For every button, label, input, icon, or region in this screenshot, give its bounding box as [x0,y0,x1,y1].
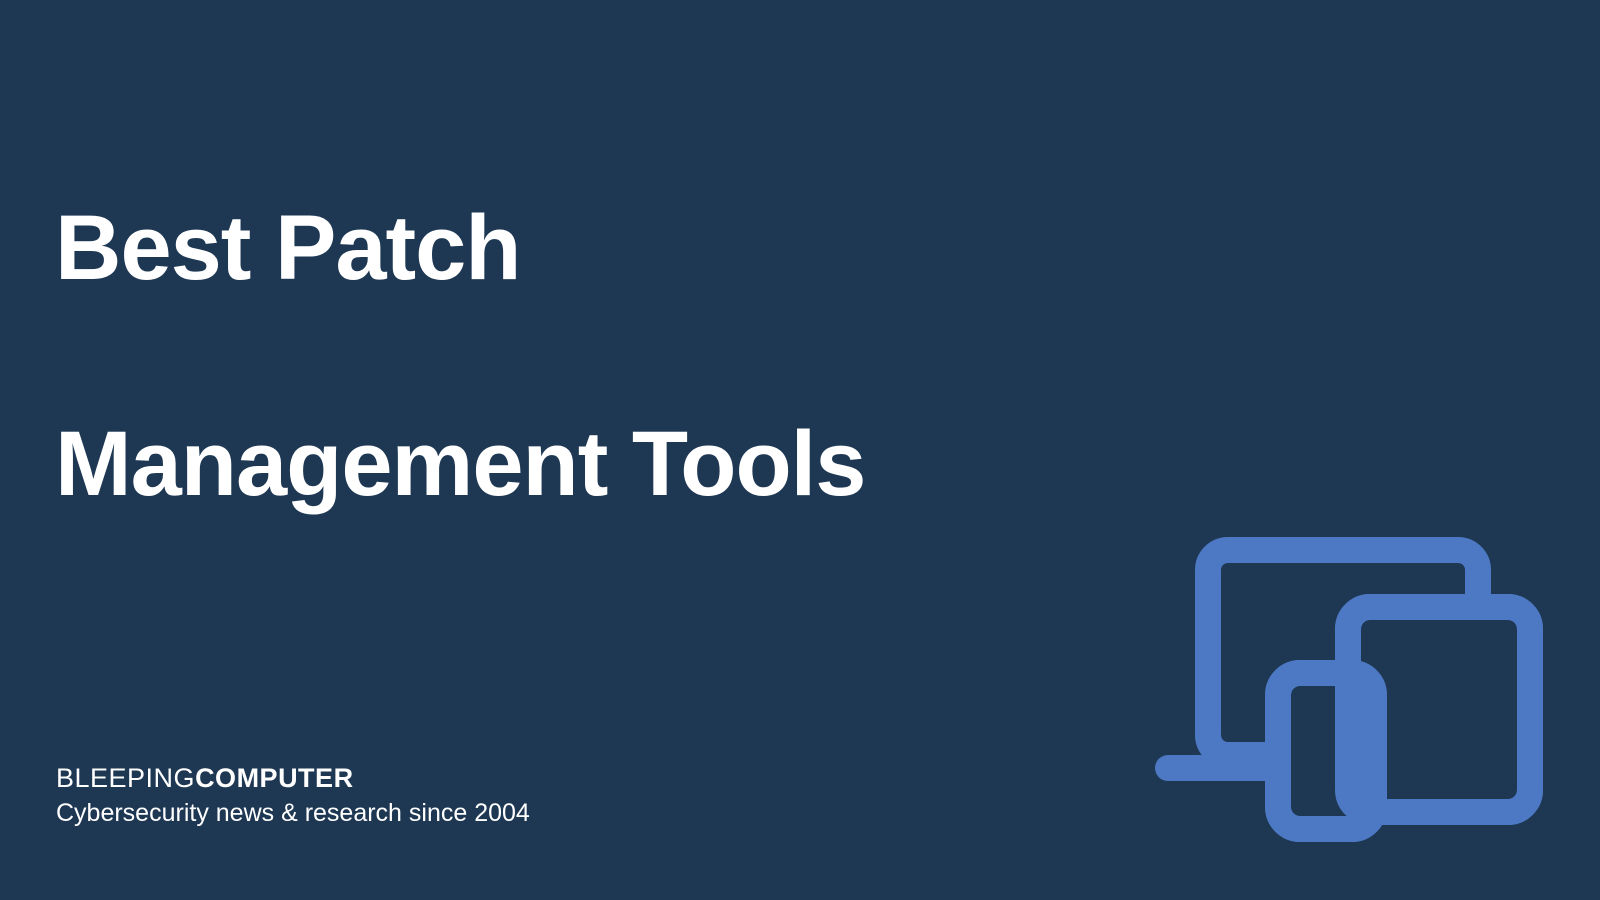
devices-icon-svg [1150,515,1550,845]
brand-logo: BLEEPINGCOMPUTER [56,763,530,793]
page-title-line-1: Best Patch [55,194,1055,302]
brand-logo-bold: COMPUTER [195,763,354,793]
page-title-line-2: Management Tools [55,410,1055,518]
brand-tagline: Cybersecurity news & research since 2004 [56,799,530,828]
devices-icon [1150,515,1550,845]
brand-logo-light: BLEEPING [56,763,195,793]
brand-lockup: BLEEPINGCOMPUTER Cybersecurity news & re… [56,763,530,828]
slide-canvas: Best Patch Management Tools BLEEPINGCOMP… [0,0,1600,900]
page-title: Best Patch Management Tools [55,86,1055,626]
